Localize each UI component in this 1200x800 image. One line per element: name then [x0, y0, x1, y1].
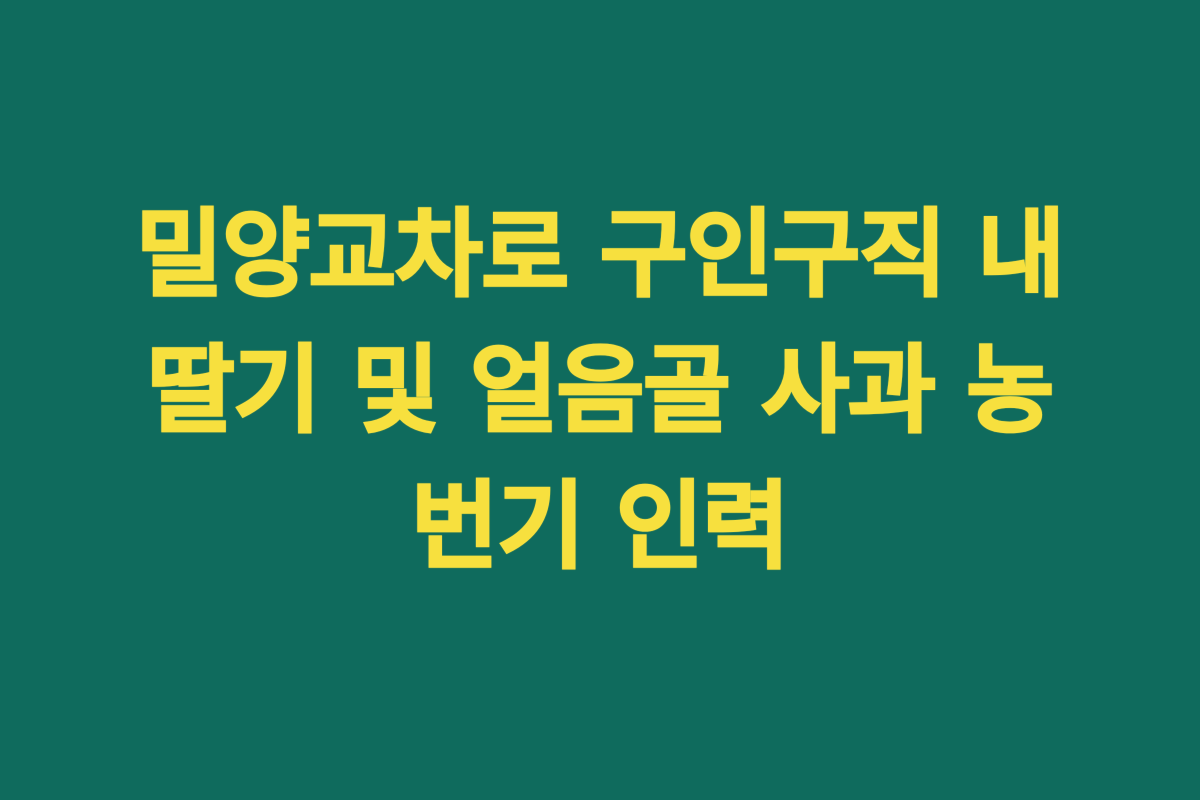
headline-line-1: 밀양교차로 구인구직 내 — [70, 187, 1130, 323]
banner-canvas: 밀양교차로 구인구직 내 딸기 및 얼음골 사과 농 번기 인력 — [0, 0, 1200, 800]
headline-line-2: 딸기 및 얼음골 사과 농 — [70, 323, 1130, 459]
headline-line-3: 번기 인력 — [70, 459, 1130, 595]
headline-text-block: 밀양교차로 구인구직 내 딸기 및 얼음골 사과 농 번기 인력 — [70, 187, 1130, 595]
